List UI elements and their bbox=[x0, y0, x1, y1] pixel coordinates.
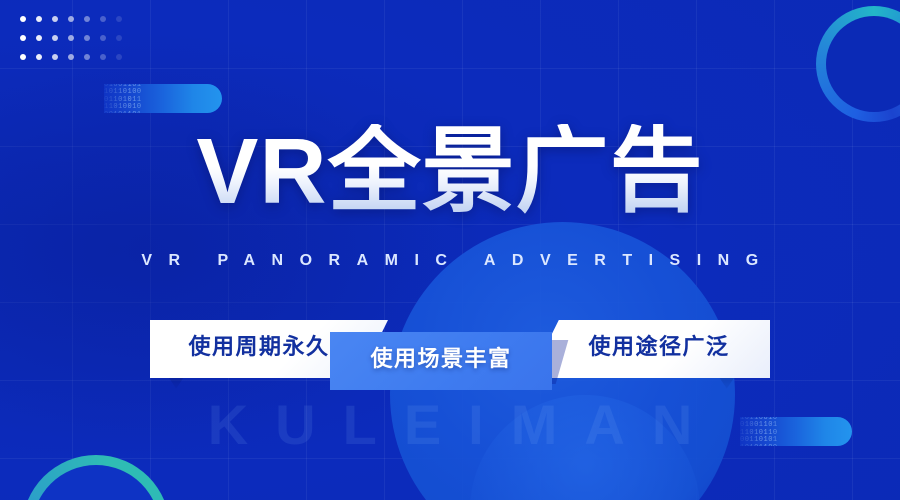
watermark-text: KULEIMAN bbox=[0, 392, 900, 457]
dot-matrix-dot bbox=[84, 35, 90, 41]
dot-matrix-dot bbox=[20, 16, 26, 22]
dot-matrix-dot bbox=[36, 16, 42, 22]
dot-matrix-dot bbox=[36, 54, 42, 60]
dot-matrix-dot bbox=[84, 54, 90, 60]
dot-matrix-dot bbox=[20, 35, 26, 41]
dot-matrix-icon bbox=[20, 16, 132, 73]
dot-matrix-dot bbox=[68, 16, 74, 22]
dot-matrix-dot bbox=[100, 35, 106, 41]
feature-ribbon-group: 使用周期永久 使用场景丰富 使用途径广泛 bbox=[0, 318, 900, 398]
dot-matrix-dot bbox=[68, 54, 74, 60]
dot-matrix-dot bbox=[68, 35, 74, 41]
dot-matrix-dot bbox=[52, 54, 58, 60]
dot-matrix-dot bbox=[52, 16, 58, 22]
dot-matrix-dot bbox=[100, 54, 106, 60]
dot-matrix-dot bbox=[20, 54, 26, 60]
dot-matrix-dot bbox=[84, 16, 90, 22]
dot-matrix-dot bbox=[100, 16, 106, 22]
page-subtitle: VR PANORAMIC ADVERTISING bbox=[0, 252, 900, 270]
page-title: VR全景广告 bbox=[0, 124, 900, 219]
feature-ribbon-1-label: 使用周期永久 bbox=[188, 329, 329, 361]
feature-ribbon-2-label: 使用场景丰富 bbox=[370, 341, 511, 373]
feature-ribbon-2[interactable]: 使用场景丰富 bbox=[330, 332, 552, 390]
vr-panoramic-ad-banner: 01001101 10110100 01101011 11010010 0010… bbox=[0, 0, 900, 500]
dot-matrix-dot bbox=[36, 35, 42, 41]
dot-matrix-dot bbox=[116, 16, 122, 22]
binary-code-text: 01001101 10110100 01101011 11010010 0010… bbox=[104, 84, 180, 113]
feature-ribbon-3[interactable]: 使用途径广泛 bbox=[530, 320, 770, 378]
binary-pill-top-icon: 01001101 10110100 01101011 11010010 0010… bbox=[104, 84, 222, 113]
dot-matrix-dot bbox=[52, 35, 58, 41]
feature-ribbon-3-label: 使用途径广泛 bbox=[588, 329, 729, 361]
dot-matrix-dot bbox=[116, 35, 122, 41]
dot-matrix-dot bbox=[116, 54, 122, 60]
